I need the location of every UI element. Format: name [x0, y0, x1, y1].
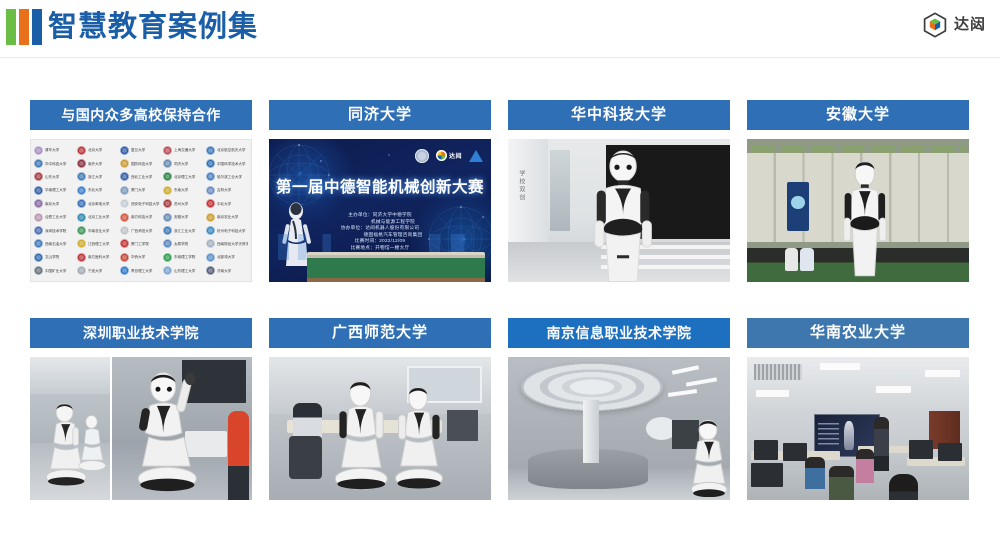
- university-name: 华侨大学: [131, 255, 145, 259]
- service-robot-graphic-left: [329, 380, 396, 494]
- university-logo-item: 北京航空航天大学: [206, 144, 248, 156]
- case-card-scau[interactable]: 华南农业大学: [747, 318, 969, 508]
- university-logo-item: 西南石油大学: [34, 238, 76, 250]
- cases-grid: 与国内众多高校保持合作 清华大学北京大学复旦大学上海交通大学北京航空航天大学华中…: [30, 100, 970, 505]
- ceiling-light-2: [820, 363, 860, 370]
- university-name: 上海交通大学: [174, 148, 195, 152]
- university-crest-icon: [163, 199, 172, 208]
- case-card-anhui[interactable]: 安徽大学: [747, 100, 969, 290]
- university-crest-icon: [34, 253, 43, 262]
- lab-scene: [747, 139, 969, 282]
- university-logo-item: 北京邮电大学: [77, 198, 119, 210]
- university-crest-icon: [77, 226, 86, 235]
- service-robot-graphic-right: [389, 386, 451, 495]
- university-crest-icon: [77, 266, 86, 275]
- university-logo-item: 南方科技大学: [120, 211, 162, 223]
- computer-classroom-photo: [747, 357, 969, 500]
- university-crest-icon: [163, 213, 172, 222]
- university-name: 北京航空航天大学: [217, 148, 245, 152]
- university-crest-icon: [163, 266, 172, 275]
- seated-person-4: [889, 474, 918, 500]
- university-logo-item: 清华大学: [34, 144, 76, 156]
- university-crest-icon: [206, 213, 215, 222]
- ceiling-light-3: [668, 389, 697, 397]
- university-name: 安徽大学: [174, 215, 188, 219]
- university-name: 北京理工大学: [174, 175, 195, 179]
- university-name: 西南石油大学: [45, 242, 66, 246]
- university-name: 中北大学: [217, 202, 231, 206]
- seated-person-3: [856, 449, 874, 483]
- university-crest-icon: [34, 239, 43, 248]
- card-title-gxnu: 广西师范大学: [269, 318, 491, 348]
- university-crest-icon: [163, 172, 172, 181]
- university-logo-item: 华中科技大学: [34, 157, 76, 169]
- service-robot-graphic-2: [76, 403, 111, 483]
- university-name: 山东理工大学: [174, 269, 195, 273]
- header-divider: [0, 57, 1000, 58]
- waving-robot-graphic: [132, 370, 205, 496]
- university-crest-icon: [77, 239, 86, 248]
- hexagon-cube-icon: [922, 12, 948, 38]
- university-crest-icon: [120, 253, 129, 262]
- poster-heading: 第一届中德智能机械创新大赛: [269, 175, 491, 197]
- university-logo-item: 中国科学技术大学: [206, 157, 248, 169]
- university-crest-icon: [120, 266, 129, 275]
- card-title-njcit: 南京信息职业技术学院: [508, 318, 730, 348]
- case-card-tongji[interactable]: 同济大学: [269, 100, 491, 290]
- university-logo-item: 南京农业大学: [206, 211, 248, 223]
- university-name: 复旦大学: [131, 148, 145, 152]
- university-logo-item: 青岛理工大学: [120, 265, 162, 277]
- ceiling-light-1: [672, 366, 699, 376]
- university-crest-icon: [34, 146, 43, 155]
- brand-logo: 达闼: [922, 12, 986, 38]
- university-logo-item: 西安电子科技大学: [120, 198, 162, 210]
- university-name: 厦门大学: [131, 188, 145, 192]
- accent-bar-orange: [19, 9, 29, 45]
- university-crest-icon: [77, 199, 86, 208]
- university-name: 哈尔滨工业大学: [217, 175, 242, 179]
- university-name: 江西理工大学: [88, 242, 109, 246]
- case-card-szpt[interactable]: 深圳职业技术学院: [30, 318, 252, 508]
- university-crest-icon: [34, 226, 43, 235]
- university-logo-wall: 清华大学北京大学复旦大学上海交通大学北京航空航天大学华中科技大学南开大学国防科技…: [30, 139, 252, 282]
- university-crest-icon: [34, 159, 43, 168]
- screen-text-block: [818, 423, 839, 446]
- accent-bars: [6, 9, 42, 45]
- university-name: 北京工业大学: [88, 215, 109, 219]
- monitor-1: [754, 440, 778, 460]
- university-logo-item: 西北工业大学: [120, 171, 162, 183]
- university-name: 北京邮电大学: [88, 202, 109, 206]
- dataa-logo-text: 达闼: [449, 151, 462, 160]
- university-crest-icon: [77, 253, 86, 262]
- university-logo-item: 国防科技大学: [120, 157, 162, 169]
- university-name: 南方医科大学: [88, 255, 109, 259]
- university-logo-item: 安徽大学: [163, 211, 205, 223]
- university-name: 合肥工业大学: [45, 215, 66, 219]
- university-name: 国防科技大学: [131, 161, 152, 165]
- university-logo-item: 太原学院: [163, 238, 205, 250]
- page-title: 智慧教育案例集: [48, 7, 258, 47]
- university-logo-item: 浙江工业大学: [163, 224, 205, 236]
- card-title-tongji: 同济大学: [269, 100, 491, 130]
- standing-person: [874, 417, 890, 471]
- university-name: 广西师范大学: [131, 228, 152, 232]
- university-name: 西安电子科技大学: [131, 202, 159, 206]
- university-name: 宁波大学: [88, 269, 102, 273]
- page-header: 智慧教育案例集 达闼: [0, 0, 1000, 58]
- university-name: 东南理工学院: [174, 255, 195, 259]
- university-crest-icon: [206, 226, 215, 235]
- classroom-scene: [269, 357, 491, 500]
- university-crest-icon: [206, 146, 215, 155]
- card-title-hust: 华中科技大学: [508, 100, 730, 130]
- university-logo-item: 广西师范大学: [120, 224, 162, 236]
- university-logo-item: 苏州大学: [163, 198, 205, 210]
- university-logo-item: 厦门大学: [120, 184, 162, 196]
- university-logo-item: 南开大学: [77, 157, 119, 169]
- university-logo-item: 深圳技术学院: [34, 224, 76, 236]
- university-crest-icon: [206, 159, 215, 168]
- university-name: 南方科技大学: [131, 215, 152, 219]
- university-name: 浙江工业大学: [174, 228, 195, 232]
- university-logo-item: 山东大学: [34, 171, 76, 183]
- university-logo-item: 东北大学: [77, 184, 119, 196]
- university-crest-icon: [34, 266, 43, 275]
- university-logo-item: 东南大学: [163, 184, 205, 196]
- university-logo-item: 杭州电子科技大学: [206, 224, 248, 236]
- university-name: 文山学院: [45, 255, 59, 259]
- university-name: 厦门工学院: [131, 242, 149, 246]
- university-logo-item: 西南财经大学天府学院: [206, 238, 248, 250]
- photo-caption: [854, 269, 856, 275]
- university-name: 南开大学: [88, 161, 102, 165]
- university-name: 苏州大学: [174, 202, 188, 206]
- university-logo-item: 华南理工大学: [34, 184, 76, 196]
- poster-billiard-table: [307, 252, 485, 282]
- photo-left-half: [30, 357, 112, 500]
- atrium-scene: [508, 357, 730, 500]
- university-crest-icon: [206, 186, 215, 195]
- university-crest-icon: [163, 239, 172, 248]
- ceiling-light-4: [925, 370, 961, 377]
- center-column: [583, 400, 599, 463]
- university-crest-icon: [34, 186, 43, 195]
- university-logo-item: 浙江大学: [77, 171, 119, 183]
- university-logo-item: 北京大学: [77, 144, 119, 156]
- university-logo-item: 东南理工学院: [163, 251, 205, 263]
- university-logo-item: 北部湾大学: [206, 251, 248, 263]
- university-crest-icon: [120, 239, 129, 248]
- university-name: 杭州电子科技大学: [217, 228, 245, 232]
- university-crest-icon: [34, 199, 43, 208]
- case-card-partners[interactable]: 与国内众多高校保持合作 清华大学北京大学复旦大学上海交通大学北京航空航天大学华中…: [30, 100, 252, 290]
- card-title-szpt: 深圳职业技术学院: [30, 318, 252, 348]
- ceiling-vent: [754, 364, 803, 380]
- robot-corridor-photo: 学校双创: [508, 139, 730, 282]
- monitor-5: [938, 443, 962, 462]
- contest-poster-photo: 达闼 第一届中德智能机械创新大赛 主办单位：同济大学中德学院 机械与能源工程学院…: [269, 139, 491, 282]
- university-name: 山东大学: [45, 175, 59, 179]
- ceiling-light-2: [685, 377, 716, 387]
- university-name: 华中科技大学: [45, 161, 66, 165]
- university-name: 清华大学: [45, 148, 59, 152]
- robot-lab-photo: [747, 139, 969, 282]
- university-crest-icon: [206, 199, 215, 208]
- dataa-logo-small: 达闼: [436, 150, 462, 161]
- university-crest-icon: [120, 226, 129, 235]
- panel-vertical-text: 学校双创: [517, 170, 526, 202]
- university-crest-icon: [120, 159, 129, 168]
- classroom-robots-photo: [269, 357, 491, 500]
- university-crest-icon: [77, 213, 86, 222]
- university-name: 青岛理工大学: [131, 269, 152, 273]
- computer-lab-scene: [747, 357, 969, 500]
- university-crest-icon: [34, 213, 43, 222]
- case-card-njcit[interactable]: 南京信息职业技术学院: [508, 318, 730, 508]
- card-title-partners: 与国内众多高校保持合作: [30, 100, 252, 130]
- card-title-scau: 华南农业大学: [747, 318, 969, 348]
- university-name: 同济大学: [174, 161, 188, 165]
- ceiling-light-3: [876, 386, 912, 393]
- university-crest-icon: [77, 172, 86, 181]
- case-card-gxnu[interactable]: 广西师范大学: [269, 318, 491, 508]
- university-logo-item: 文山学院: [34, 251, 76, 263]
- small-robot-1: [785, 248, 798, 271]
- university-logo-item: 江西理工大学: [77, 238, 119, 250]
- university-logo-item: 华侨大学: [120, 251, 162, 263]
- service-robot-graphic: [692, 420, 730, 497]
- university-name: 南京大学: [45, 202, 59, 206]
- kiosk-emblem-icon: [791, 196, 804, 209]
- university-crest-icon: [163, 159, 172, 168]
- photo-right-half: [112, 357, 252, 500]
- university-crest-icon: [163, 253, 172, 262]
- university-crest-icon: [120, 172, 129, 181]
- accent-bar-green: [6, 9, 16, 45]
- poster-sponsor-logos: 达闼: [365, 148, 483, 163]
- university-logo-item: 中北大学: [206, 198, 248, 210]
- university-crest-icon: [120, 186, 129, 195]
- corridor-door: [550, 150, 570, 230]
- equipment-box: [447, 410, 478, 441]
- university-crest-icon: [120, 146, 129, 155]
- accent-bar-blue: [32, 9, 42, 45]
- university-crest-icon: [206, 253, 215, 262]
- person-in-red: [228, 411, 249, 500]
- university-logo-item: 同济大学: [163, 157, 205, 169]
- university-logo-item: 北京工业大学: [77, 211, 119, 223]
- university-logo-item: 山东理工大学: [163, 265, 205, 277]
- university-name: 北部湾大学: [217, 255, 235, 259]
- seated-person-2: [829, 466, 853, 500]
- university-logo-item: 南京大学: [34, 198, 76, 210]
- university-logo-item: 上海交通大学: [163, 144, 205, 156]
- university-logo-item: 中国矿业大学: [34, 265, 76, 277]
- university-logo-item: 华南农业大学: [77, 224, 119, 236]
- university-name: 南京农业大学: [217, 215, 238, 219]
- university-name: 西北工业大学: [131, 175, 152, 179]
- dataa-mark-icon: [436, 150, 447, 161]
- university-crest-icon: [120, 213, 129, 222]
- left-wall: [508, 139, 548, 245]
- university-name: 深圳技术学院: [45, 228, 66, 232]
- university-name: 中国矿业大学: [45, 269, 66, 273]
- university-name: 华南理工大学: [45, 188, 66, 192]
- university-name: 浙江大学: [88, 175, 102, 179]
- atrium-robot-photo: [508, 357, 730, 500]
- brand-name: 达闼: [954, 12, 986, 38]
- university-name: 西南财经大学天府学院: [217, 242, 248, 246]
- university-name: 太原学院: [174, 242, 188, 246]
- university-logo-item: 复旦大学: [120, 144, 162, 156]
- monitor-4: [909, 440, 933, 459]
- screen-robot-image: [844, 421, 854, 450]
- university-crest-icon: [163, 226, 172, 235]
- university-name: 中国科学技术大学: [217, 161, 245, 165]
- small-robot-2: [800, 248, 813, 271]
- university-crest-icon: [77, 159, 86, 168]
- university-logo-item: 济南大学: [206, 265, 248, 277]
- university-crest-icon: [206, 239, 215, 248]
- seated-person-1: [805, 457, 825, 488]
- university-logo-item: 合肥工业大学: [34, 211, 76, 223]
- university-crest-icon: [206, 172, 215, 181]
- ceiling-light-1: [756, 390, 789, 397]
- university-name: 华南农业大学: [88, 228, 109, 232]
- office-chair: [289, 436, 322, 479]
- university-name: 济南大学: [217, 269, 231, 273]
- university-logo-item: 宁波大学: [77, 265, 119, 277]
- university-crest-icon: [206, 266, 215, 275]
- university-crest-icon: [120, 199, 129, 208]
- tongji-seal-icon: [415, 149, 429, 163]
- university-crest-icon: [34, 172, 43, 181]
- university-logo-item: 哈尔滨工业大学: [206, 171, 248, 183]
- monitor-3: [751, 463, 782, 487]
- case-card-hust[interactable]: 华中科技大学 学校双创: [508, 100, 730, 290]
- left-ceiling: [30, 357, 110, 394]
- university-logo-item: 吉林大学: [206, 184, 248, 196]
- university-name: 北京大学: [88, 148, 102, 152]
- robots-demo-photo: [30, 357, 252, 500]
- university-crest-icon: [77, 146, 86, 155]
- university-crest-icon: [77, 186, 86, 195]
- university-logo-item: 南方医科大学: [77, 251, 119, 263]
- university-logo-item: 厦门工学院: [120, 238, 162, 250]
- university-crest-icon: [163, 186, 172, 195]
- card-title-anhui: 安徽大学: [747, 100, 969, 130]
- partner-logo-icon: [469, 150, 483, 162]
- university-name: 吉林大学: [217, 188, 231, 192]
- university-logo-item: 北京理工大学: [163, 171, 205, 183]
- university-name: 东南大学: [174, 188, 188, 192]
- corridor-scene: 学校双创: [508, 139, 730, 282]
- university-name: 东北大学: [88, 188, 102, 192]
- university-crest-icon: [163, 146, 172, 155]
- monitor-2: [783, 443, 807, 462]
- humanoid-robot-graphic: [836, 158, 894, 278]
- humanoid-robot-graphic: [572, 150, 674, 282]
